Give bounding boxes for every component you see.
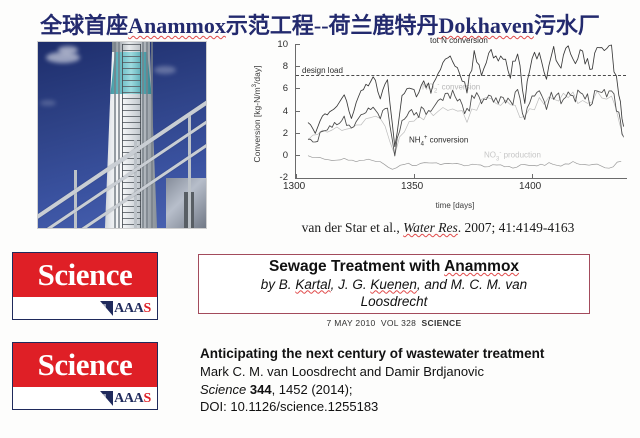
citation-journal: Water Res [403, 220, 458, 235]
chart-citation: van der Star et al., Water Res. 2007; 41… [236, 220, 640, 236]
aaas-wordmark: AAAS [114, 392, 151, 406]
chart-series-line [308, 156, 621, 170]
science-2014-article-block: Anticipating the next century of wastewa… [200, 345, 620, 416]
article-title-2010: Sewage Treatment with Anammox [269, 258, 519, 276]
issue-volume: VOL 328 [381, 318, 416, 328]
pipe-line [118, 42, 120, 228]
cloud-shape [58, 46, 78, 54]
x-tick-label: 1400 [519, 181, 541, 192]
aaas-triangle-icon [100, 301, 113, 316]
y-axis-label-exponent: 3 [252, 84, 258, 87]
x-tick-label: 1300 [283, 181, 305, 192]
y-axis-label-tail: /day] [252, 66, 262, 84]
issue-journal: SCIENCE [422, 318, 462, 328]
chart-plot-area [296, 44, 626, 178]
page-title: 全球首座Anammox示范工程--荷兰鹿特丹Dokhaven污水厂 [0, 8, 640, 40]
x-tick-label: 1350 [401, 181, 423, 192]
article-authors-2014: Mark C. M. van Loosdrecht and Damir Brdj… [200, 363, 620, 381]
citation-details: . 2007; 41:4149-4163 [458, 220, 575, 235]
cloud-shape [154, 66, 176, 74]
title-suffix: 污水厂 [534, 13, 600, 38]
article-title-2014: Anticipating the next century of wastewa… [200, 345, 620, 363]
title-middle: 示范工程--荷兰鹿特丹 [226, 13, 439, 38]
cloud-shape [40, 100, 56, 106]
aaas-wordmark: AAAS [114, 302, 151, 316]
aaas-triangle-icon [100, 391, 113, 406]
y-tick-label: 6 [268, 83, 288, 94]
anammox-reactor-tower-photo [38, 42, 206, 228]
science-wordmark: Science [38, 259, 133, 292]
article-doi-2014: DOI: 10.1126/science.1255183 [200, 398, 620, 416]
aaas-band: AAAS [13, 298, 157, 319]
chart-series-line [308, 89, 624, 155]
chart-x-axis [295, 178, 627, 179]
science-logo-red-band: Science [13, 343, 157, 387]
article-authors-2010-cont: Loosdrecht [361, 294, 428, 310]
slide-canvas: 全球首座Anammox示范工程--荷兰鹿特丹Dokhaven污水厂 Conver… [0, 0, 640, 438]
y-axis-label-head: Conversion [kg-N/m [252, 87, 262, 162]
pipe-line [114, 42, 116, 228]
science-wordmark: Science [38, 349, 133, 382]
citation-authors: van der Star et al., [302, 220, 404, 235]
science-aaas-logo: Science AAAS [12, 342, 158, 410]
science-aaas-logo: Science AAAS [12, 252, 158, 320]
chart-x-axis-label: time [days] [254, 201, 634, 210]
science-2010-issue-line: 7 MAY 2010 VOL 328 SCIENCE [198, 318, 590, 328]
pipe-line [146, 42, 148, 228]
issue-date: 7 MAY 2010 [327, 318, 376, 328]
title-term-anammox: Anammox [128, 13, 226, 38]
science-2010-article-box: Sewage Treatment with Anammox by B. Kart… [198, 254, 590, 314]
y-tick-label: 8 [268, 61, 288, 72]
article-authors-2010: by B. Kartal, J. G. Kuenen, and M. C. M.… [261, 277, 527, 293]
y-tick-label: 2 [268, 128, 288, 139]
science-logo-red-band: Science [13, 253, 157, 297]
pipe-line [142, 42, 144, 228]
article-journal-2014: Science 344, 1452 (2014); [200, 381, 620, 399]
y-tick-label: 10 [268, 39, 288, 50]
aaas-band: AAAS [13, 388, 157, 409]
conversion-timeseries-chart: Conversion [kg-N/m3/day] 10 8 6 4 2 0 -2… [254, 38, 634, 216]
y-tick-label: 4 [268, 106, 288, 117]
title-term-dokhaven: Dokhaven [439, 13, 534, 38]
title-prefix: 全球首座 [40, 13, 128, 38]
y-tick-label: 0 [268, 150, 288, 161]
railing-post [74, 170, 77, 228]
